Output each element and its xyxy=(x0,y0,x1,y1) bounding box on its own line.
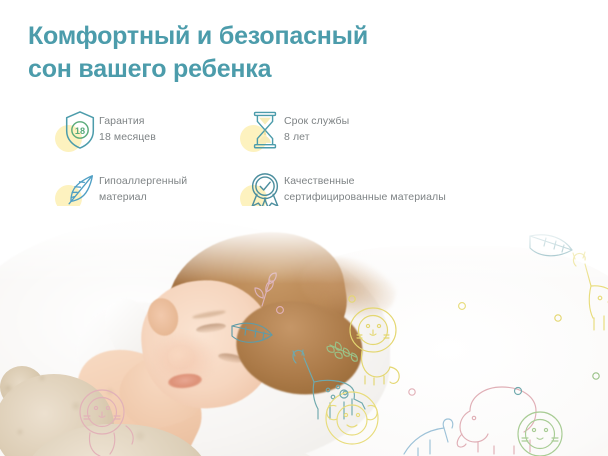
hourglass-icon xyxy=(240,108,284,156)
feature-label: Гипоаллергенный материал xyxy=(99,168,187,206)
feature-label: Срок службы 8 лет xyxy=(284,108,349,146)
page-title: Комфортный и безопасный сон вашего ребен… xyxy=(28,20,448,86)
feature-item-service-life: Срок службы 8 лет xyxy=(240,108,530,168)
feature-item-guarantee: 18 Гарантия 18 месяцев xyxy=(55,108,240,168)
shield-18-icon: 18 xyxy=(55,108,99,156)
pattern-sprig-pink xyxy=(255,273,276,306)
animal-print-pattern xyxy=(0,206,608,456)
promo-banner: Комфортный и безопасный сон вашего ребен… xyxy=(0,0,608,456)
svg-text:18: 18 xyxy=(75,126,85,136)
pattern-giraffe-yellow-right xyxy=(573,252,608,330)
pattern-giraffe-blue xyxy=(404,419,453,456)
pattern-elephant-pink xyxy=(457,387,536,454)
pattern-lion-pink xyxy=(80,390,133,456)
feature-label: Качественные сертифицированные материалы xyxy=(284,168,446,206)
pattern-leaf-teal xyxy=(530,235,572,256)
feature-label: Гарантия 18 месяцев xyxy=(99,108,156,146)
pattern-dots xyxy=(277,296,600,398)
pattern-leaf-teal-2 xyxy=(232,323,272,342)
pattern-lion-yellow xyxy=(350,308,399,385)
sleeping-child-photo xyxy=(0,206,608,456)
pattern-giraffe-teal xyxy=(293,350,365,419)
pattern-lion-green xyxy=(518,412,562,456)
pattern-sprig-green xyxy=(327,342,357,361)
